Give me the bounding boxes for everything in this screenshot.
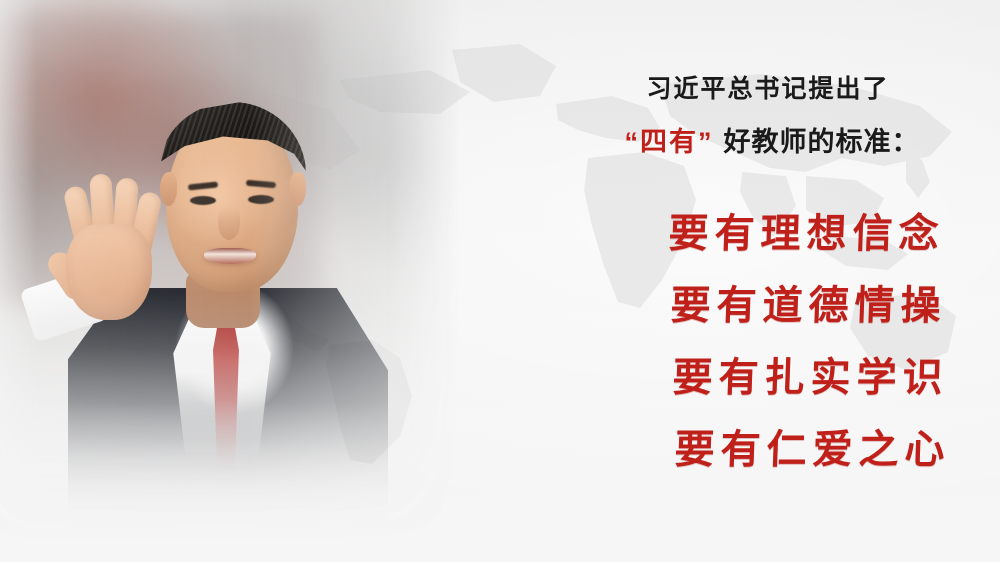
portrait-photo (0, 0, 460, 562)
nose (218, 206, 240, 240)
slogan-item: 要有扎实学识 (671, 358, 1000, 430)
mouth (204, 248, 256, 264)
ear-right (289, 172, 306, 206)
portrait-subject (0, 0, 460, 562)
text-column: 习近平总书记提出了 “四有”好教师的标准： 要有理想信念 要有道德情操 要有扎实… (600, 0, 1000, 562)
slogan-item: 要有仁爱之心 (673, 430, 1000, 502)
waving-hand (56, 168, 162, 318)
eye-left (190, 196, 216, 205)
eye-right (248, 195, 274, 204)
quoted-term-siyou: “四有” (625, 127, 714, 157)
ear-left (160, 172, 177, 206)
slogan-list: 要有理想信念 要有道德情操 要有扎实学识 要有仁爱之心 (600, 214, 1000, 502)
slogan-item: 要有理想信念 (667, 214, 1000, 286)
slide-canvas: 习近平总书记提出了 “四有”好教师的标准： 要有理想信念 要有道德情操 要有扎实… (0, 0, 1000, 562)
headline-line-2: “四有”好教师的标准： (600, 128, 944, 158)
headline-line-1: 习近平总书记提出了 (600, 76, 936, 104)
slogan-item: 要有道德情操 (669, 286, 1000, 358)
palm (66, 224, 152, 320)
headline-line-2-rest: 好教师的标准： (724, 127, 920, 157)
